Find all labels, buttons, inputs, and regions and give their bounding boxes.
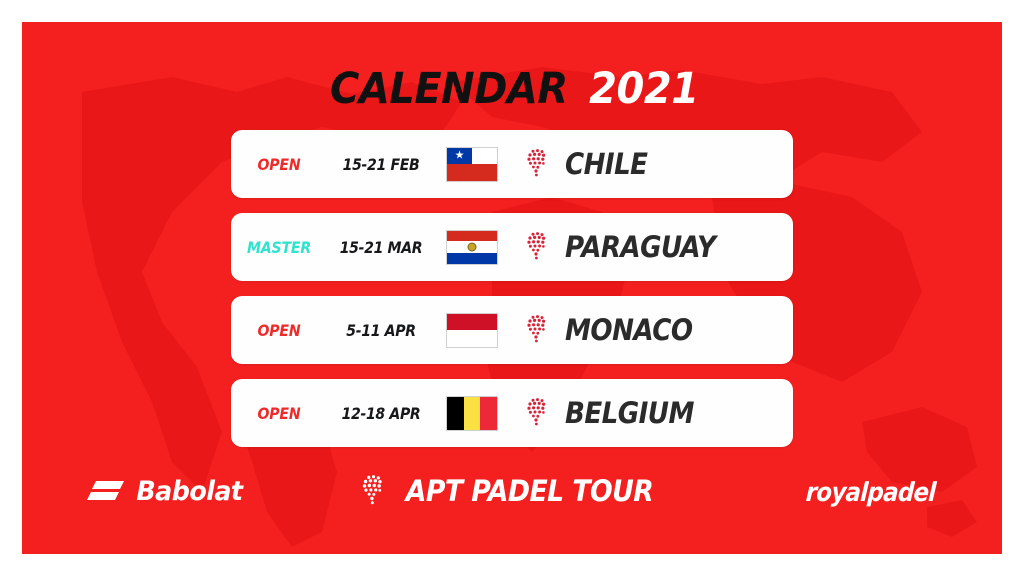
event-row-chile[interactable]: OPEN 15-21 FEB ★ bbox=[231, 130, 793, 198]
event-country: CHILE bbox=[565, 147, 770, 181]
chile-flag-icon: ★ bbox=[446, 147, 498, 182]
event-type-badge: OPEN bbox=[237, 155, 321, 174]
padel-racket-icon bbox=[509, 231, 565, 263]
event-dates: 15-21 MAR bbox=[333, 238, 428, 257]
event-dates: 5-11 APR bbox=[333, 321, 428, 340]
padel-racket-icon bbox=[509, 397, 565, 429]
event-country: PARAGUAY bbox=[565, 230, 770, 264]
event-row-belgium[interactable]: OPEN 12-18 APR bbox=[231, 379, 793, 447]
calendar-poster: CALENDAR2021 OPEN 15-21 FEB ★ bbox=[22, 22, 1002, 554]
title-calendar-word: CALENDAR bbox=[330, 64, 568, 114]
flag-container: ★ bbox=[435, 147, 509, 182]
paraguay-flag-icon bbox=[446, 230, 498, 265]
flag-container bbox=[435, 396, 509, 431]
padel-racket-icon bbox=[509, 148, 565, 180]
flag-container bbox=[435, 313, 509, 348]
sponsor-royalpadel[interactable]: royalpadel bbox=[805, 478, 937, 508]
event-country: MONACO bbox=[565, 313, 770, 347]
event-list: OPEN 15-21 FEB ★ bbox=[231, 130, 793, 447]
belgium-flag-icon bbox=[446, 396, 498, 431]
event-row-monaco[interactable]: OPEN 5-11 APR bbox=[231, 296, 793, 364]
flag-container bbox=[435, 230, 509, 265]
event-country: BELGIUM bbox=[565, 396, 770, 430]
event-row-paraguay[interactable]: MASTER 15-21 MAR bbox=[231, 213, 793, 281]
event-type-badge: OPEN bbox=[237, 321, 321, 340]
event-type-badge: MASTER bbox=[237, 238, 321, 257]
event-dates: 12-18 APR bbox=[333, 404, 428, 423]
monaco-flag-icon bbox=[446, 313, 498, 348]
padel-racket-icon bbox=[509, 314, 565, 346]
event-dates: 15-21 FEB bbox=[333, 155, 428, 174]
footer: Babolat APT PADEL TOUR royalpadel bbox=[22, 474, 1002, 522]
padel-racket-icon bbox=[360, 474, 386, 508]
apt-wordmark: APT PADEL TOUR bbox=[406, 474, 653, 508]
title-year: 2021 bbox=[589, 64, 698, 114]
event-type-badge: OPEN bbox=[237, 404, 321, 423]
page-title: CALENDAR2021 bbox=[22, 64, 1002, 114]
